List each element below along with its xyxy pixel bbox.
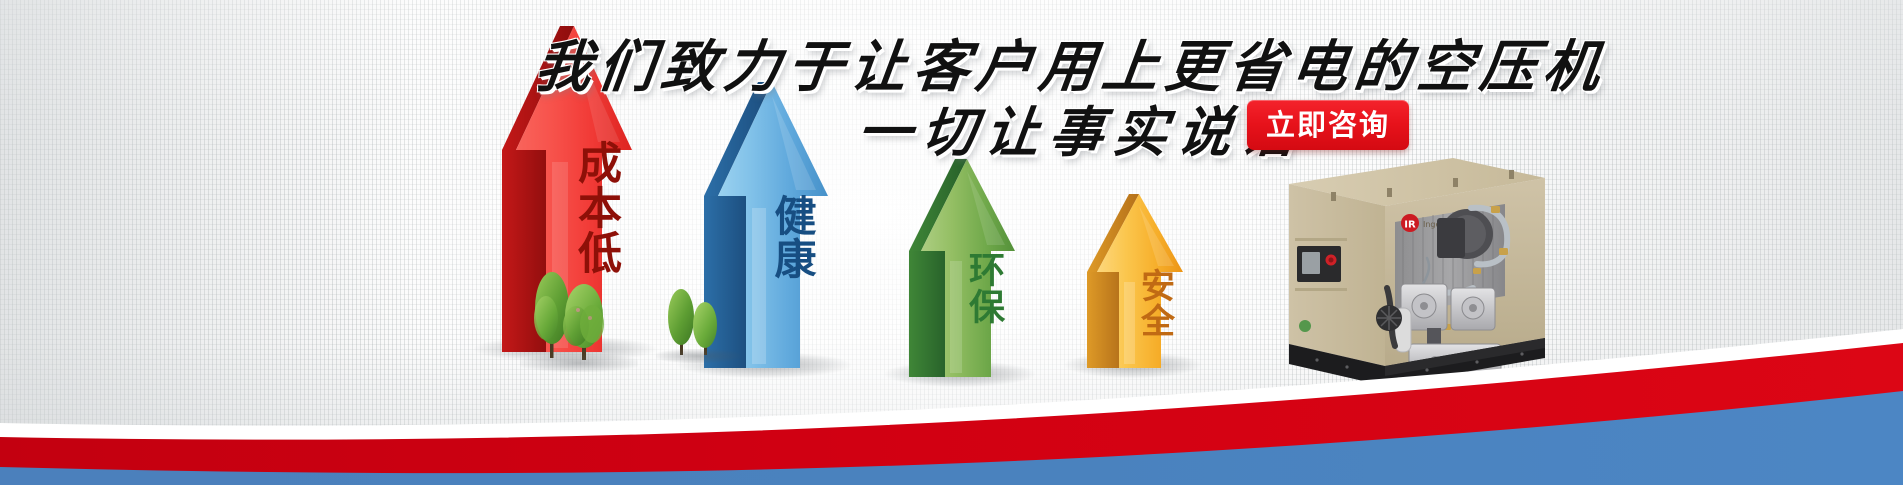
bottom-ribbon (0, 295, 1903, 485)
arrow-health-label: 健康 (757, 194, 813, 280)
ribbon-swoosh (0, 295, 1903, 485)
svg-text:IR: IR (1404, 220, 1416, 231)
arrow-cost-low-label: 成本低 (557, 140, 617, 275)
promo-banner: 成本低 (0, 0, 1903, 485)
headline-line-2: 一切让事实说话 (853, 88, 1311, 167)
consult-now-button[interactable]: 立即咨询 (1247, 100, 1409, 150)
